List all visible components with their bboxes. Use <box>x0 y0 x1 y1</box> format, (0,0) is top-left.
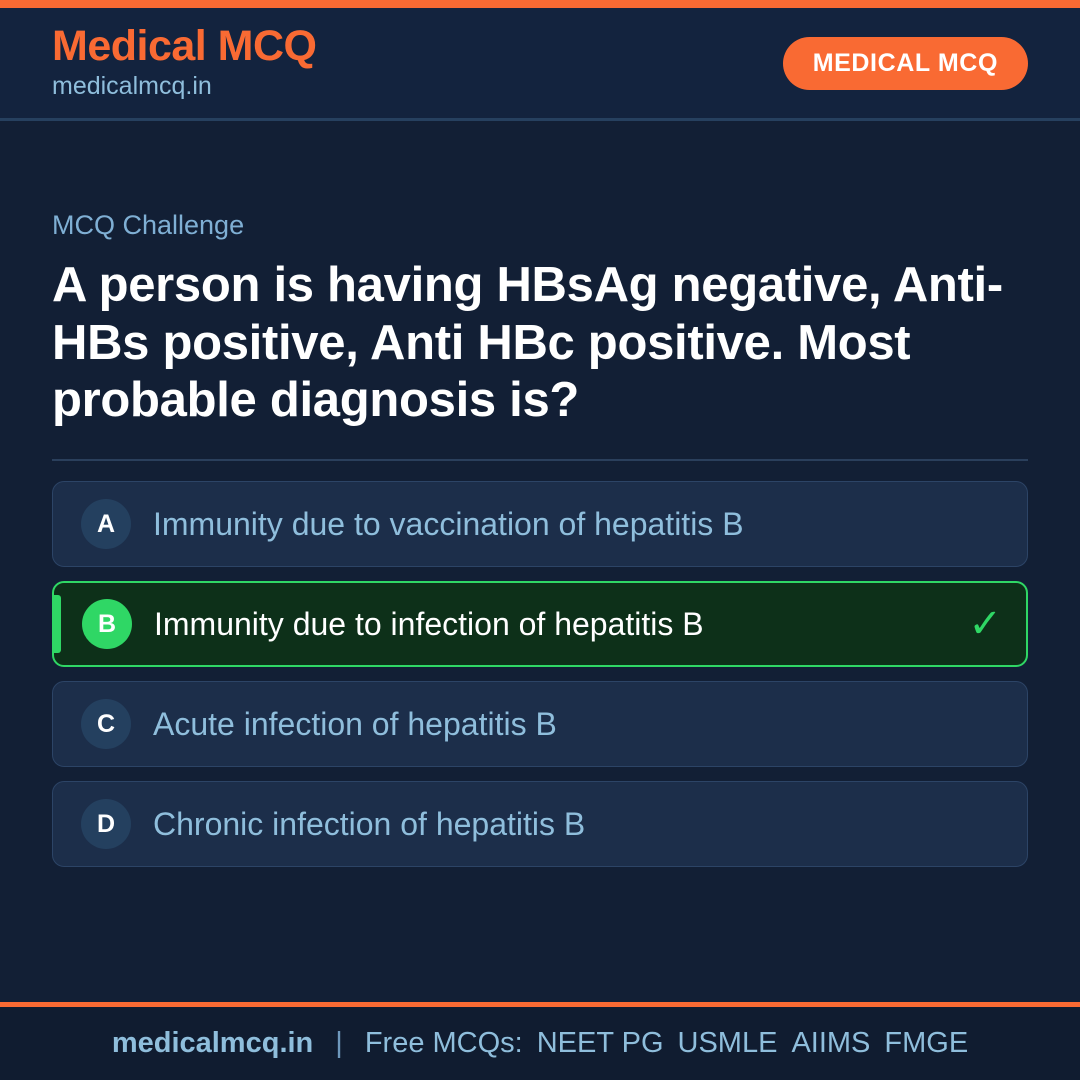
brand-subtitle: medicalmcq.in <box>52 71 317 102</box>
option-row-b[interactable]: B Immunity due to infection of hepatitis… <box>52 581 1028 667</box>
footer-tag-neetpg: NEET PG <box>537 1027 664 1060</box>
check-icon-b: ✓ <box>968 604 1002 644</box>
header-bar: Medical MCQ medicalmcq.in MEDICAL MCQ <box>0 8 1080 121</box>
options-list: A Immunity due to vaccination of hepatit… <box>52 481 1028 867</box>
option-letter-badge-c: C <box>81 699 131 749</box>
option-letter-badge-b: B <box>82 599 132 649</box>
footer-tag-fmge: FMGE <box>884 1027 968 1060</box>
footer-label: Free MCQs: <box>365 1027 523 1060</box>
footer-tag-usmle: USMLE <box>678 1027 778 1060</box>
correct-accent-bar-b <box>54 595 61 653</box>
kicker-label: MCQ Challenge <box>52 209 1028 241</box>
option-row-a[interactable]: A Immunity due to vaccination of hepatit… <box>52 481 1028 567</box>
footer-separator: | <box>335 1027 343 1060</box>
footer-content: medicalmcq.in | Free MCQs: NEET PG USMLE… <box>112 1027 968 1060</box>
option-letter-badge-d: D <box>81 799 131 849</box>
option-text-a: Immunity due to vaccination of hepatitis… <box>153 505 953 543</box>
main-content: MCQ Challenge A person is having HBsAg n… <box>0 121 1080 1002</box>
footer-site: medicalmcq.in <box>112 1027 313 1060</box>
header-badge: MEDICAL MCQ <box>783 37 1028 90</box>
option-letter-badge-a: A <box>81 499 131 549</box>
option-row-d[interactable]: D Chronic infection of hepatitis B ✓ <box>52 781 1028 867</box>
footer-tag-aiims: AIIMS <box>791 1027 870 1060</box>
brand-title: Medical MCQ <box>52 24 317 69</box>
question-divider <box>52 459 1028 461</box>
question-text: A person is having HBsAg negative, Anti-… <box>52 257 1028 429</box>
option-row-c[interactable]: C Acute infection of hepatitis B ✓ <box>52 681 1028 767</box>
option-text-c: Acute infection of hepatitis B <box>153 705 953 743</box>
option-text-b: Immunity due to infection of hepatitis B <box>154 605 952 643</box>
footer-bar: medicalmcq.in | Free MCQs: NEET PG USMLE… <box>0 1002 1080 1080</box>
mcq-card: Medical MCQ medicalmcq.in MEDICAL MCQ MC… <box>0 0 1080 1080</box>
top-accent-strip <box>0 0 1080 8</box>
brand-block: Medical MCQ medicalmcq.in <box>52 24 317 102</box>
option-text-d: Chronic infection of hepatitis B <box>153 805 953 843</box>
